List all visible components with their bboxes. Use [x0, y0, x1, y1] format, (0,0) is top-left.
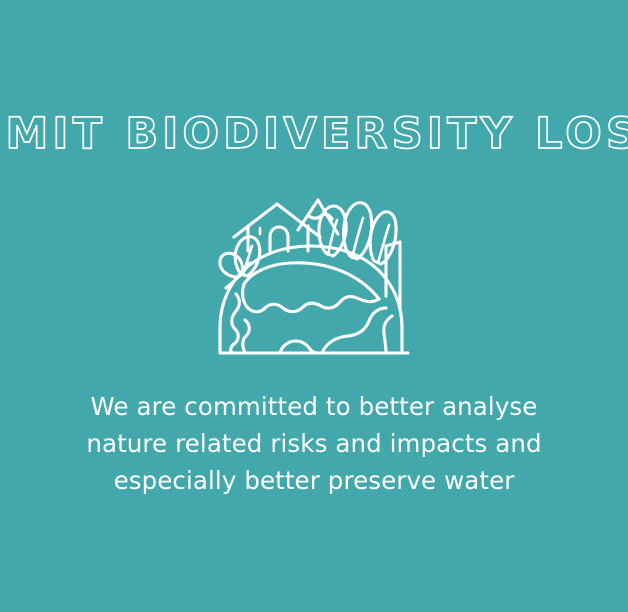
fence-rail-icon — [386, 242, 400, 246]
continent-right-icon — [322, 308, 386, 353]
title-outline-svg: LIMIT BIODIVERSITY LOSS — [34, 106, 594, 164]
continent-left-inner-icon — [243, 320, 249, 353]
tree-tall-2-vein-icon — [352, 218, 363, 258]
tree-tall-2-icon — [344, 203, 372, 259]
globe-scene-svg — [214, 198, 414, 362]
continent-bottom-icon — [280, 341, 318, 353]
body-copy: We are committed to better analyse natur… — [0, 388, 628, 499]
body-copy-line-2: nature related risks and impacts and — [0, 425, 628, 462]
page-title: LIMIT BIODIVERSITY LOSS — [0, 104, 628, 166]
tree-tall-3-icon — [370, 212, 396, 264]
poster-card: LIMIT BIODIVERSITY LOSS — [0, 0, 628, 612]
continent-right-inner-icon — [384, 316, 392, 353]
continent-left-icon — [231, 294, 240, 353]
biodiversity-illustration — [0, 198, 628, 362]
page-title-text: LIMIT BIODIVERSITY LOSS — [0, 109, 628, 159]
body-copy-line-3: especially better preserve water — [0, 462, 628, 499]
continents-icon — [243, 263, 379, 312]
body-copy-line-1: We are committed to better analyse — [0, 388, 628, 425]
